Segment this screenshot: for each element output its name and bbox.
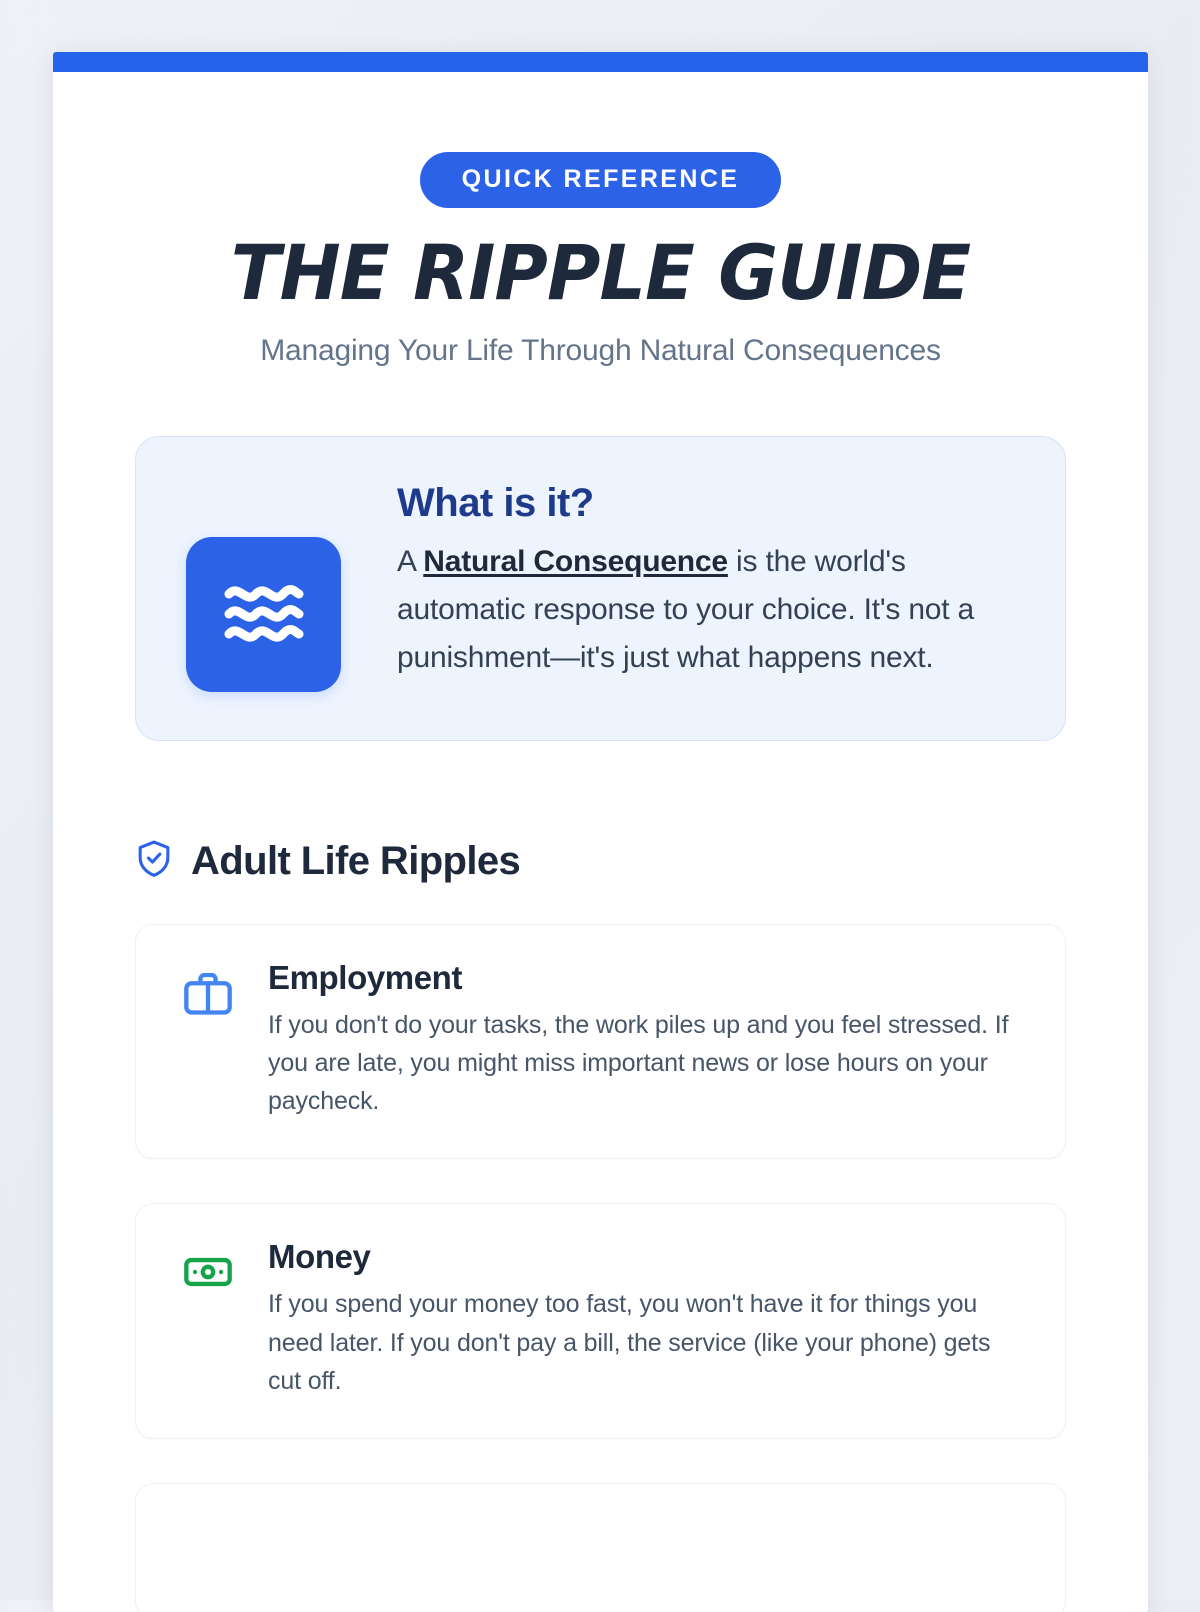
ripple-card-money[interactable]: Money If you spend your money too fast, … — [135, 1203, 1066, 1439]
ripple-card-employment[interactable]: Employment If you don't do your tasks, t… — [135, 924, 1066, 1160]
ripple-body: Employment If you don't do your tasks, t… — [268, 959, 1025, 1121]
ripple-card-next[interactable] — [135, 1483, 1066, 1612]
page-header: QUICK REFERENCE THE RIPPLE GUIDE Managin… — [135, 72, 1066, 368]
natural-consequence-term: Natural Consequence — [423, 545, 728, 578]
ripple-icon-placeholder — [180, 1524, 236, 1580]
section-title: Adult Life Ripples — [191, 839, 520, 884]
shield-check-icon — [135, 839, 173, 884]
ripple-description: If you don't do your tasks, the work pil… — [268, 1006, 1025, 1121]
top-accent-bar — [53, 52, 1148, 72]
ripple-description: If you spend your money too fast, you wo… — [268, 1285, 1025, 1400]
quick-reference-badge[interactable]: QUICK REFERENCE — [420, 152, 782, 208]
what-is-it-card: What is it? A Natural Consequence is the… — [135, 436, 1066, 741]
what-is-it-heading: What is it? — [397, 481, 1019, 526]
guide-sheet: QUICK REFERENCE THE RIPPLE GUIDE Managin… — [53, 52, 1148, 1612]
what-is-it-text: A Natural Consequence is the world's aut… — [397, 538, 1019, 683]
waves-icon — [186, 537, 341, 692]
page-subtitle: Managing Your Life Through Natural Conse… — [135, 334, 1066, 368]
ripple-title: Money — [268, 1238, 1025, 1276]
banknote-icon — [180, 1244, 236, 1300]
ripple-title: Employment — [268, 959, 1025, 997]
page-title: THE RIPPLE GUIDE — [154, 234, 1048, 312]
intro-text-before: A — [397, 545, 423, 578]
briefcase-icon — [180, 965, 236, 1021]
ripple-body — [268, 1518, 1025, 1527]
adult-life-ripples-heading: Adult Life Ripples — [135, 839, 1066, 884]
ripple-body: Money If you spend your money too fast, … — [268, 1238, 1025, 1400]
what-is-it-body: What is it? A Natural Consequence is the… — [397, 479, 1019, 683]
